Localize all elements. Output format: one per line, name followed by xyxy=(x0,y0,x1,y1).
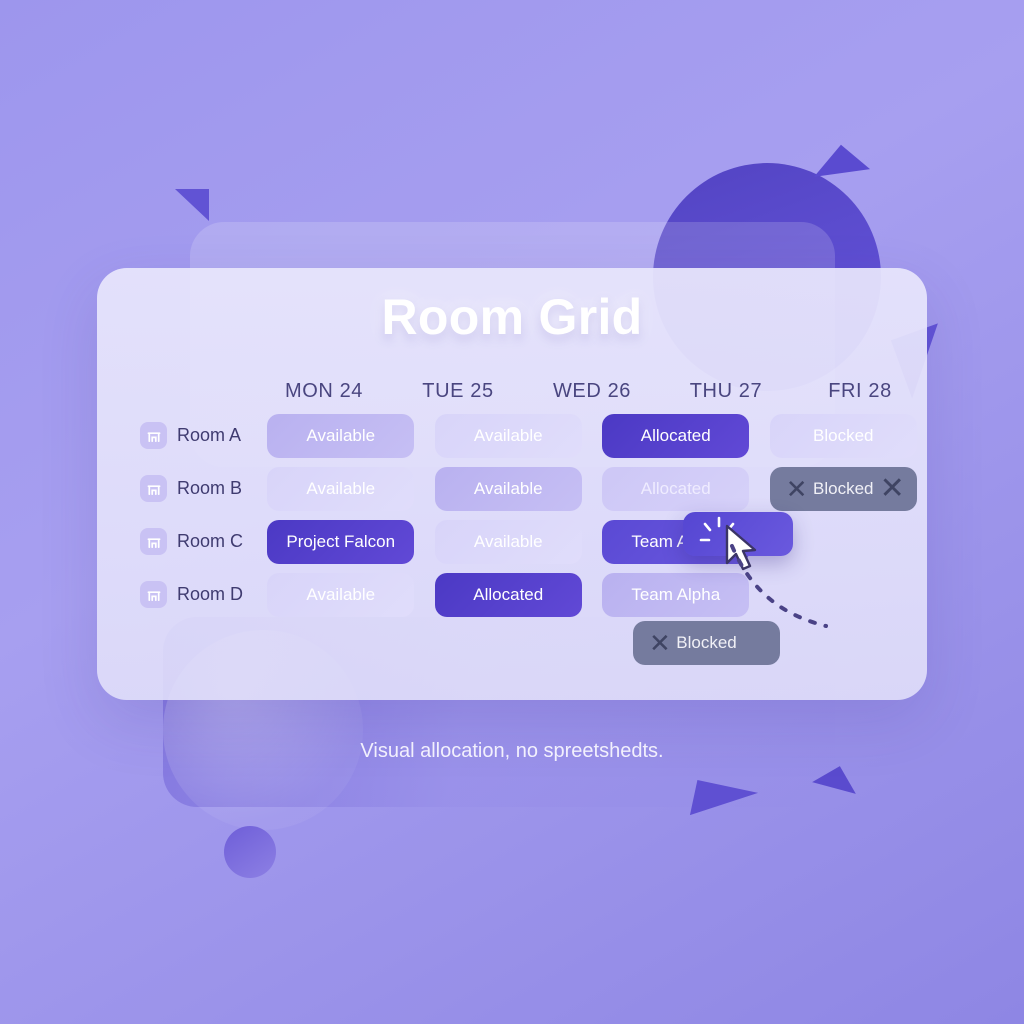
decorative-triangle-bottom-right-2 xyxy=(812,766,856,810)
building-icon xyxy=(140,422,167,449)
decorative-triangle-top-left xyxy=(175,189,209,221)
grid-cell[interactable]: Project Falcon xyxy=(267,520,414,564)
grid-header-row: MON 24 TUE 25 WED 26 THU 27 FRI 28 xyxy=(97,380,927,403)
grid-cell-empty xyxy=(339,621,486,665)
day-header-wed: WED 26 xyxy=(525,380,659,403)
decorative-triangle-bottom-right-1 xyxy=(690,780,758,828)
drag-trail-icon xyxy=(728,540,838,640)
close-icon: ✕ xyxy=(880,474,905,504)
grid-cell[interactable]: Allocated xyxy=(602,414,749,458)
building-icon xyxy=(140,581,167,608)
grid-cell[interactable]: Available xyxy=(267,414,414,458)
decorative-triangle-top-right xyxy=(814,145,870,202)
grid-cell-blocked[interactable]: ✕ Blocked ✕ xyxy=(770,467,917,511)
grid-cell[interactable]: Available xyxy=(435,520,582,564)
page-title: Room Grid xyxy=(97,288,927,346)
grid-cell[interactable]: Blocked xyxy=(770,414,917,458)
day-header-thu: THU 27 xyxy=(659,380,793,403)
grid-cell[interactable]: Available xyxy=(435,467,582,511)
room-name: Room C xyxy=(177,531,243,552)
close-icon: ✕ xyxy=(786,476,808,502)
decorative-circle-small xyxy=(224,826,276,878)
day-header-mon: MON 24 xyxy=(257,380,391,403)
building-icon xyxy=(140,475,167,502)
grid-cell[interactable]: Allocated xyxy=(435,573,582,617)
footer-caption: Visual allocation, no spreetshedts. xyxy=(0,740,1024,763)
room-label-cell: Room B xyxy=(97,475,257,502)
grid-cell-dragging-source[interactable]: Allocated xyxy=(602,467,749,511)
grid-cell[interactable]: Available xyxy=(435,414,582,458)
building-icon xyxy=(140,528,167,555)
day-header-tue: TUE 25 xyxy=(391,380,525,403)
grid-cell[interactable]: Available xyxy=(267,467,414,511)
room-name: Room A xyxy=(177,425,241,446)
table-row: Room A Available Available Allocated Blo… xyxy=(97,409,927,462)
close-icon: ✕ xyxy=(649,630,671,656)
grid-cell-empty xyxy=(192,621,339,665)
room-name: Room B xyxy=(177,478,242,499)
grid-cell[interactable]: Available xyxy=(267,573,414,617)
room-name: Room D xyxy=(177,584,243,605)
day-header-fri: FRI 28 xyxy=(793,380,927,403)
room-label-cell: Room A xyxy=(97,422,257,449)
grid-cell-empty xyxy=(486,621,633,665)
grid-cell-label: Blocked xyxy=(813,479,873,499)
table-row: Room B Available Available Allocated ✕ B… xyxy=(97,462,927,515)
room-label-cell: Room C xyxy=(97,528,257,555)
room-label-cell: Room D xyxy=(97,581,257,608)
